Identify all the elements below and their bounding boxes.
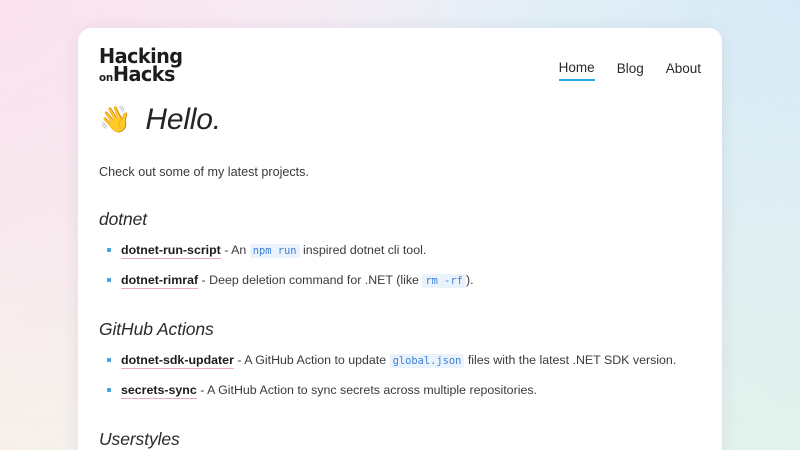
waving-hand-emoji: 👋: [99, 107, 131, 133]
nav-link-blog[interactable]: Blog: [617, 61, 644, 80]
main-navigation: Home Blog About: [559, 47, 701, 81]
item-description: inspired dotnet cli tool.: [300, 243, 427, 257]
section-heading: Userstyles: [99, 429, 701, 450]
site-header: Hacking onHacks Home Blog About: [99, 28, 701, 90]
hero: 👋 Hello.: [99, 103, 701, 137]
intro-text: Check out some of my latest projects.: [99, 165, 701, 179]
bullet-icon: [107, 358, 111, 362]
project-link[interactable]: secrets-sync: [121, 383, 197, 399]
bullet-icon: [107, 388, 111, 392]
item-description: - A GitHub Action to update: [234, 353, 390, 367]
project-list: dotnet-sdk-updater - A GitHub Action to …: [99, 351, 701, 399]
item-description: ).: [466, 273, 474, 287]
list-item: secrets-sync - A GitHub Action to sync s…: [99, 381, 701, 400]
page-card: Hacking onHacks Home Blog About 👋 Hello.…: [78, 28, 722, 450]
list-item: dotnet-run-script - An npm run inspired …: [99, 241, 701, 260]
sections-container: dotnetdotnet-run-script - An npm run ins…: [99, 209, 701, 450]
inline-code: rm -rf: [422, 274, 466, 288]
inline-code: global.json: [390, 354, 465, 368]
nav-link-about[interactable]: About: [666, 61, 701, 80]
section-heading: GitHub Actions: [99, 319, 701, 340]
item-description: - An: [221, 243, 250, 257]
site-logo[interactable]: Hacking onHacks: [99, 47, 188, 83]
item-description: files with the latest .NET SDK version.: [464, 353, 676, 367]
project-link[interactable]: dotnet-rimraf: [121, 273, 198, 289]
logo-line-two: onHacks: [99, 65, 183, 83]
inline-code: npm run: [250, 244, 300, 258]
item-description: - Deep deletion command for .NET (like: [198, 273, 422, 287]
bullet-icon: [107, 278, 111, 282]
section-heading: dotnet: [99, 209, 701, 230]
project-link[interactable]: dotnet-run-script: [121, 243, 221, 259]
list-item: dotnet-rimraf - Deep deletion command fo…: [99, 271, 701, 290]
bullet-icon: [107, 248, 111, 252]
list-item: dotnet-sdk-updater - A GitHub Action to …: [99, 351, 701, 370]
logo-on-word: on: [99, 71, 113, 84]
nav-link-home[interactable]: Home: [559, 60, 595, 81]
item-description: - A GitHub Action to sync secrets across…: [197, 383, 537, 397]
project-list: dotnet-run-script - An npm run inspired …: [99, 241, 701, 289]
page-title: Hello.: [145, 103, 221, 137]
logo-hacks-word: Hacks: [113, 62, 175, 86]
project-link[interactable]: dotnet-sdk-updater: [121, 353, 234, 369]
